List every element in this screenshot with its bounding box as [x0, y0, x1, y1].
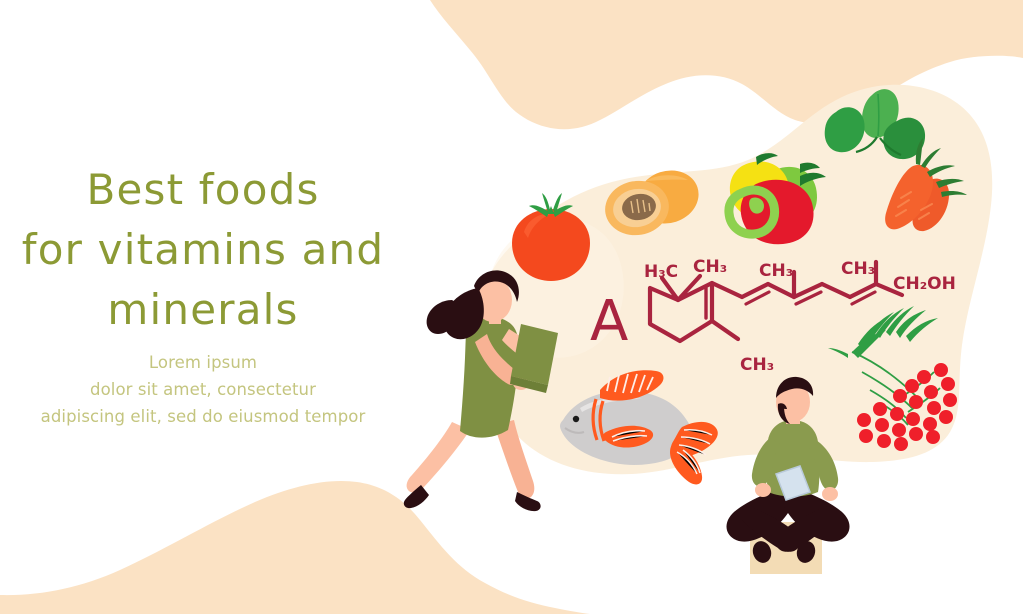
walking-woman-figure	[404, 270, 558, 511]
molecule-label-ch3-b: CH₃	[759, 261, 793, 281]
molecule-label-h3c: H₃C	[644, 262, 678, 282]
sitting-man-figure	[727, 377, 850, 574]
molecule-label-ch3-c: CH₃	[841, 259, 875, 279]
bell-peppers-icon	[729, 153, 826, 244]
fish-icon	[560, 370, 718, 484]
vitamin-a-letter: A	[590, 289, 628, 354]
illustration-canvas: Best foods for vitamins and minerals Lor…	[0, 0, 1023, 614]
molecule-label-ch2oh: CH₂OH	[893, 274, 956, 294]
apricot-halves-icon	[601, 163, 706, 240]
spinach-leaves-icon	[825, 89, 925, 159]
molecule-label-ch3-a: CH₃	[693, 257, 727, 277]
tomato-icon	[512, 193, 590, 281]
molecule-label-ch3-ring: CH₃	[740, 355, 774, 375]
rowan-berries-icon	[828, 306, 957, 451]
